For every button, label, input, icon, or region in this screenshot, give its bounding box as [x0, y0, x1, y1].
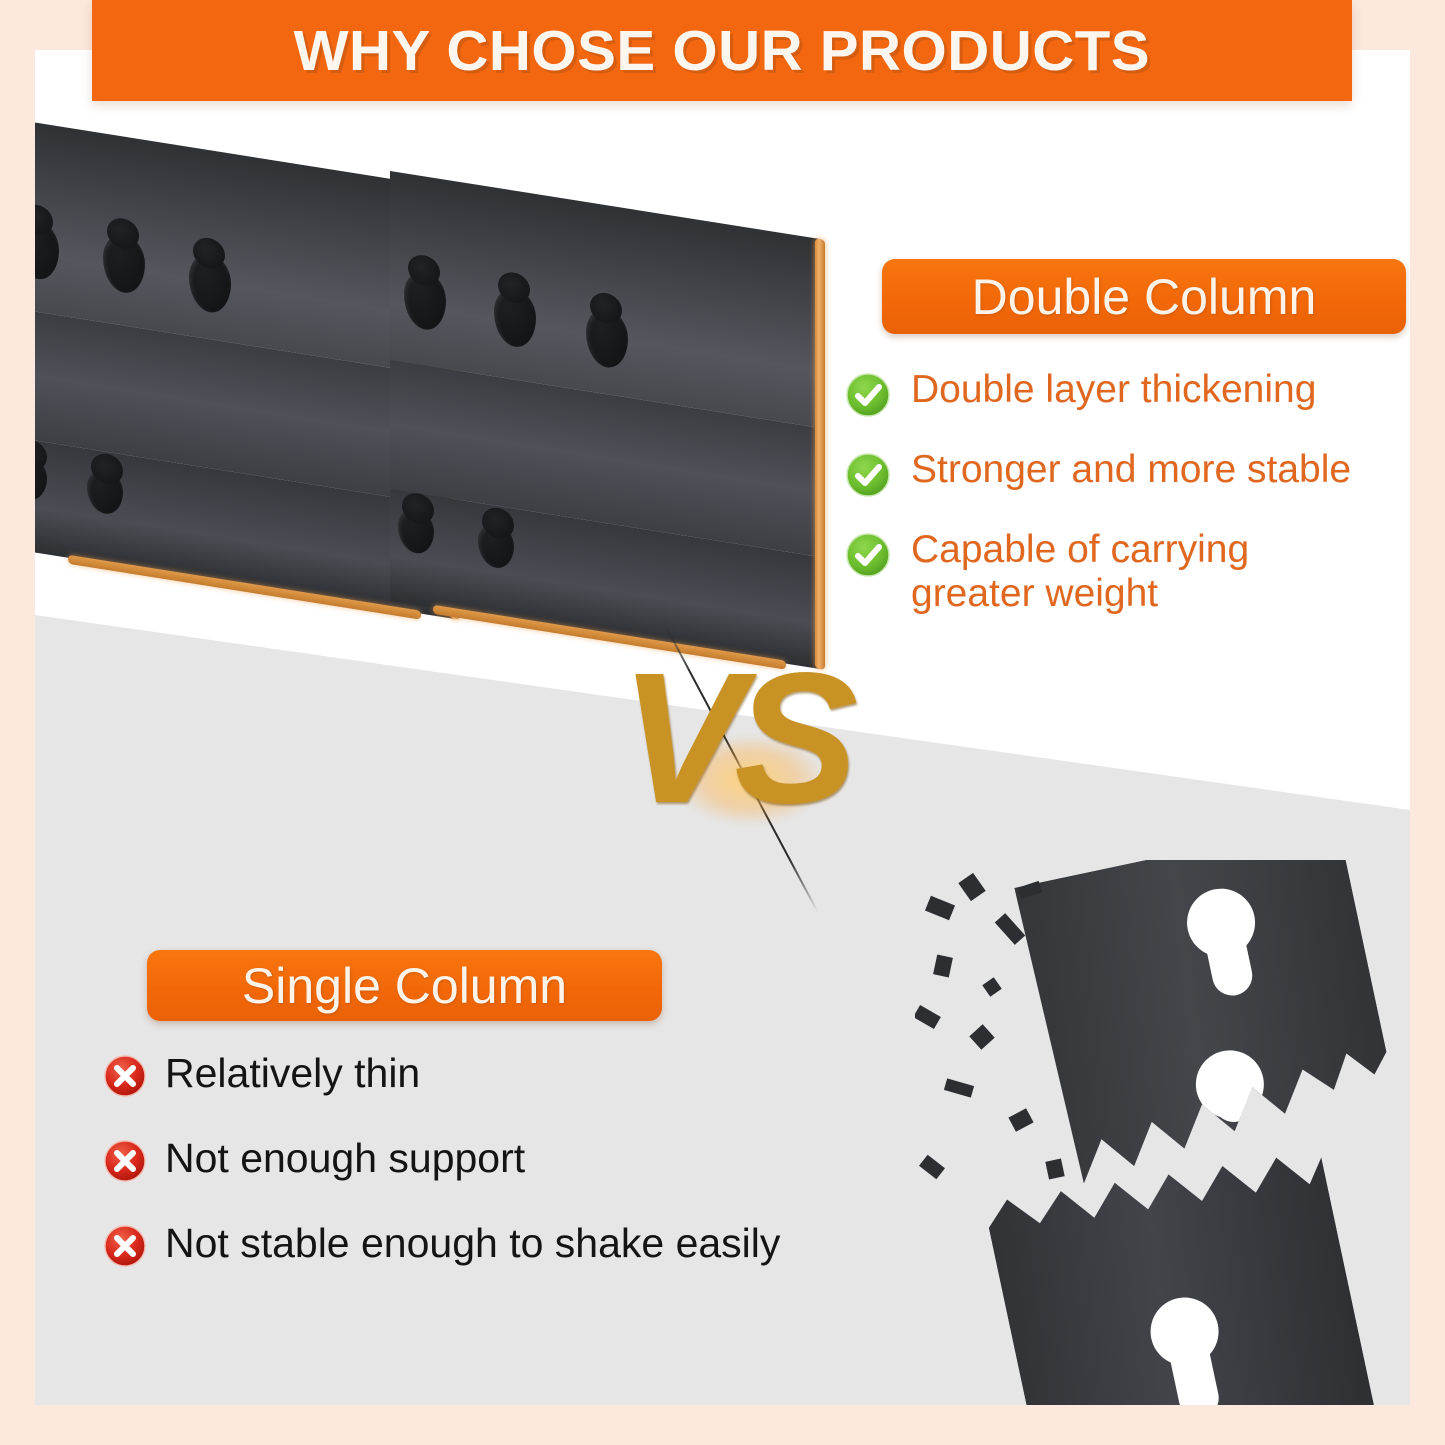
- list-item: Double layer thickening: [845, 368, 1410, 418]
- keyhole-slot: [494, 286, 536, 351]
- debris-shard: [1008, 1108, 1033, 1132]
- keyhole-slot: [1160, 1306, 1222, 1405]
- keyhole-slot: [404, 268, 446, 333]
- keyhole-slot: [189, 251, 231, 316]
- pros-list: Double layer thickening Stronger and mor…: [845, 368, 1410, 617]
- check-circle-icon: [845, 372, 891, 418]
- keyhole-slot: [1206, 1059, 1258, 1126]
- debris-shard: [1045, 1159, 1064, 1180]
- list-item: Capable of carrying greater weight: [845, 528, 1410, 617]
- versus-mark: VS: [620, 650, 860, 880]
- steel-post-right: [390, 171, 820, 669]
- single-column-badge[interactable]: Single Column: [147, 950, 662, 1021]
- list-item: Relatively thin: [103, 1050, 893, 1098]
- list-item-label: Relatively thin: [165, 1050, 420, 1097]
- check-circle-icon: [845, 532, 891, 578]
- double-column-posts-photo: [35, 145, 825, 625]
- keyhole-slot: [35, 218, 59, 283]
- list-item: Not stable enough to shake easily: [103, 1220, 893, 1268]
- list-item-label: Not enough support: [165, 1135, 525, 1182]
- keyhole-slot: [586, 306, 628, 371]
- cons-list: Relatively thin Not enough support: [103, 1050, 893, 1305]
- keyhole-slot: [1197, 897, 1256, 999]
- header-banner: WHY CHOSE OUR PRODUCTS: [92, 0, 1352, 101]
- double-column-badge-label: Double Column: [972, 268, 1317, 326]
- x-circle-icon: [103, 1139, 147, 1183]
- keyhole-slot: [478, 521, 514, 571]
- debris-shard: [915, 1005, 941, 1029]
- check-circle-icon: [845, 452, 891, 498]
- single-column-badge-label: Single Column: [242, 957, 567, 1015]
- debris-shard: [982, 977, 1001, 996]
- infographic-page: VS Double Column: [0, 0, 1445, 1445]
- keyhole-slot: [35, 453, 47, 503]
- debris-shard: [933, 955, 953, 978]
- x-circle-icon: [103, 1224, 147, 1268]
- list-item-label: Stronger and more stable: [911, 448, 1351, 492]
- keyhole-slot: [398, 506, 434, 556]
- debris-shard: [925, 896, 955, 921]
- list-item-label: Not stable enough to shake easily: [165, 1220, 780, 1267]
- post-edge-highlight: [815, 238, 825, 670]
- versus-label: VS: [620, 650, 860, 829]
- debris-shard: [944, 1078, 974, 1097]
- page-title: WHY CHOSE OUR PRODUCTS: [294, 18, 1150, 84]
- double-column-badge[interactable]: Double Column: [882, 259, 1406, 334]
- list-item-label: Capable of carrying greater weight: [911, 528, 1249, 617]
- broken-post-upper-piece: [1014, 860, 1405, 1211]
- keyhole-slot: [87, 467, 123, 517]
- debris-shard: [919, 1155, 945, 1180]
- content-card: VS Double Column: [35, 50, 1410, 1405]
- broken-column-photo: [915, 860, 1410, 1405]
- x-circle-icon: [103, 1054, 147, 1098]
- debris-shard: [958, 873, 985, 901]
- keyhole-slot: [103, 232, 145, 297]
- broken-post-lower-piece: [983, 1128, 1378, 1405]
- list-item: Stronger and more stable: [845, 448, 1410, 498]
- list-item: Not enough support: [103, 1135, 893, 1183]
- debris-shard: [969, 1024, 994, 1049]
- debris-shard: [995, 913, 1025, 945]
- list-item-label: Double layer thickening: [911, 368, 1316, 412]
